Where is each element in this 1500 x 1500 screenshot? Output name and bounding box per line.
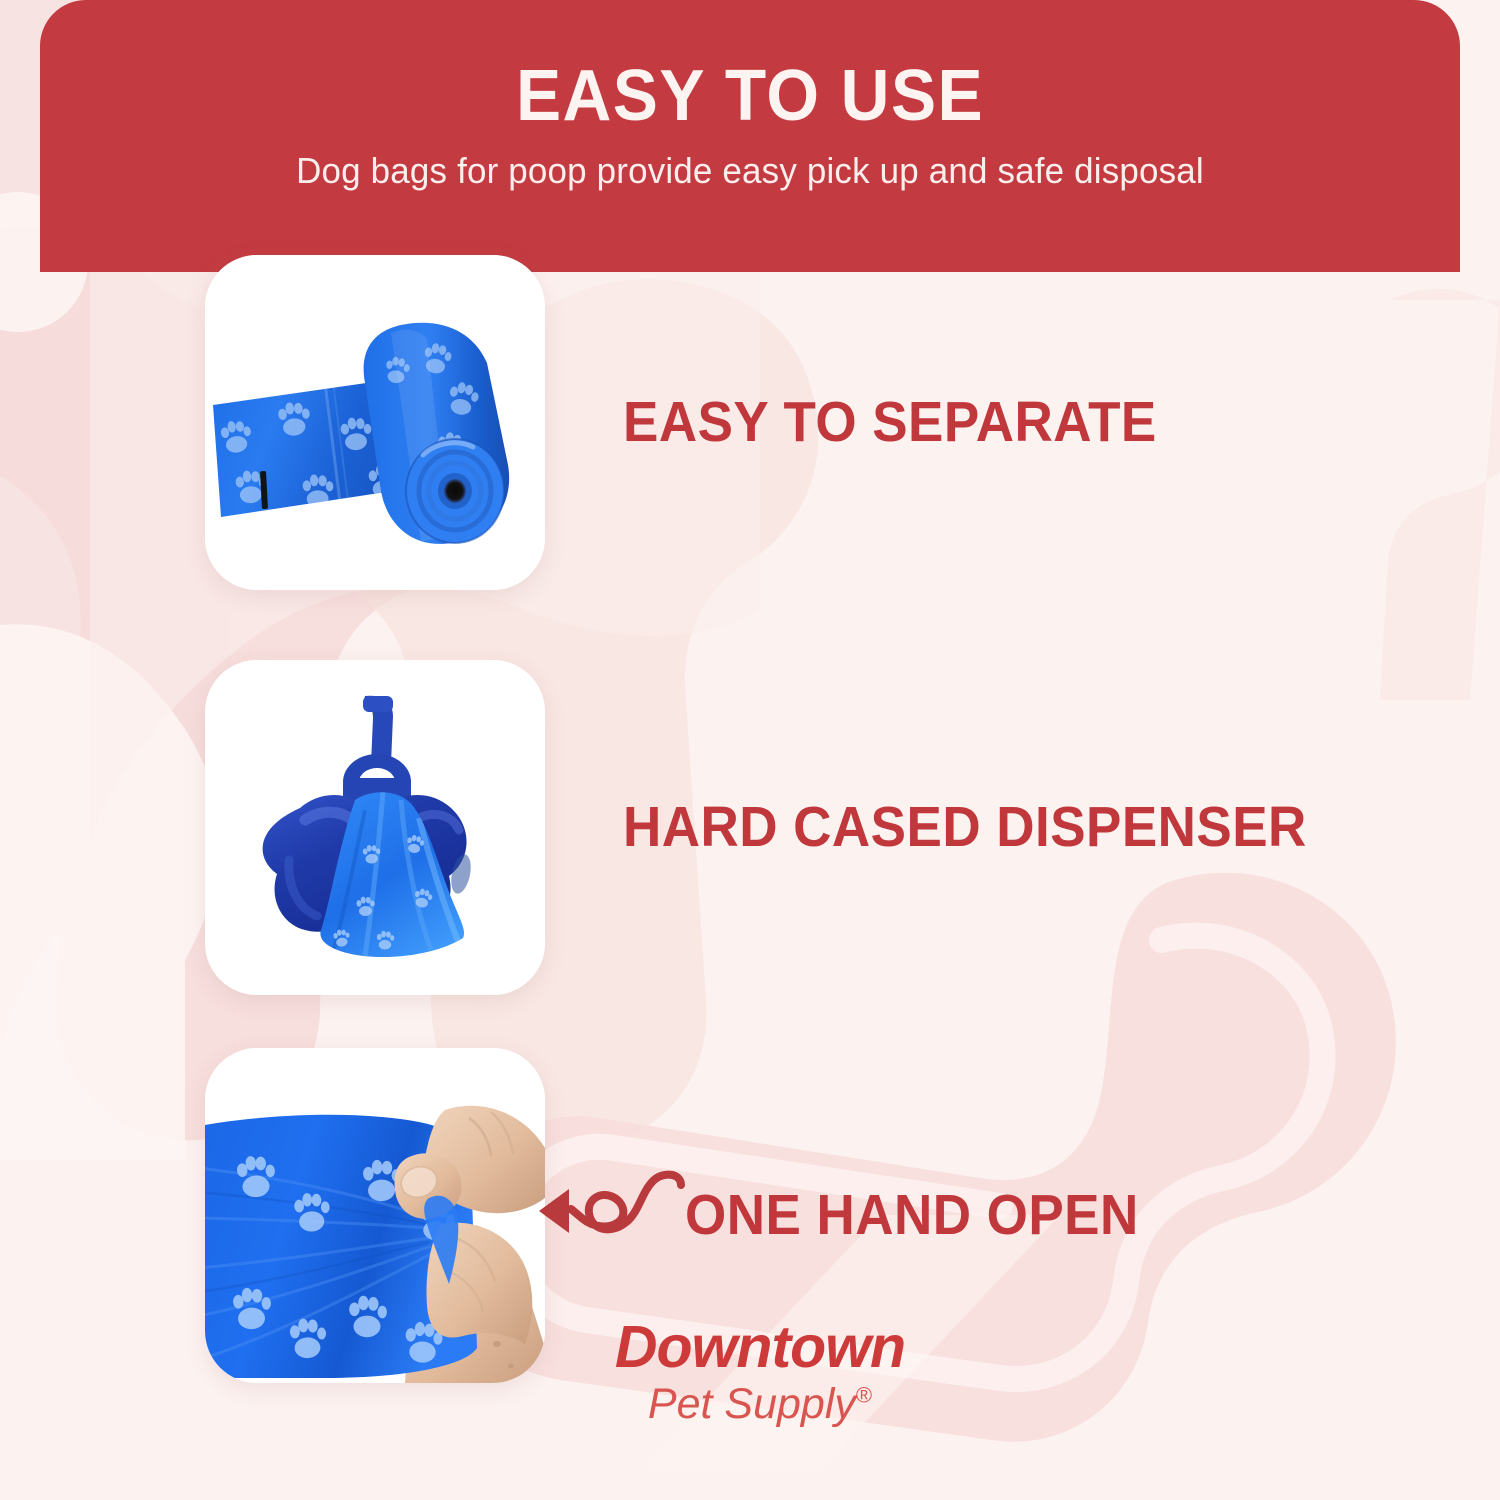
infographic-canvas: EASY TO USE Dog bags for poop provide ea… bbox=[0, 0, 1500, 1500]
photo-card-bag-roll bbox=[205, 255, 545, 590]
feature-label-one-hand-open: ONE HAND OPEN bbox=[685, 1187, 1139, 1244]
feature-label-wrap-2: HARD CASED DISPENSER bbox=[623, 799, 1358, 856]
header-banner: EASY TO USE Dog bags for poop provide ea… bbox=[40, 0, 1460, 272]
swoosh-left bbox=[0, 624, 219, 1160]
brand-logo-line2-wrap: Pet Supply® bbox=[560, 1381, 960, 1428]
bag-roll-illustration bbox=[205, 255, 545, 590]
bone-dispenser-illustration bbox=[205, 660, 545, 995]
feature-label-wrap-3: ONE HAND OPEN bbox=[535, 1151, 1173, 1281]
feature-label-hard-cased-dispenser: HARD CASED DISPENSER bbox=[623, 799, 1307, 856]
brand-logo-line1: Downtown bbox=[560, 1318, 960, 1377]
brand-logo: Downtown Pet Supply® bbox=[560, 1318, 960, 1428]
feature-label-easy-to-separate: EASY TO SEPARATE bbox=[623, 394, 1157, 451]
feature-label-wrap-1: EASY TO SEPARATE bbox=[623, 394, 1197, 451]
feature-row-hard-cased-dispenser: HARD CASED DISPENSER bbox=[205, 660, 1358, 995]
page-title: EASY TO USE bbox=[83, 58, 1418, 134]
page-subtitle: Dog bags for poop provide easy pick up a… bbox=[61, 150, 1438, 192]
photo-card-dispenser bbox=[205, 660, 545, 995]
curly-arrow-icon bbox=[535, 1151, 685, 1281]
feature-row-easy-to-separate: EASY TO SEPARATE bbox=[205, 255, 1197, 590]
photo-card-one-hand-open bbox=[205, 1048, 545, 1383]
registered-trademark-icon: ® bbox=[856, 1383, 872, 1408]
brand-logo-line2: Pet Supply bbox=[648, 1380, 856, 1428]
bone-watermark-right-top bbox=[1380, 289, 1500, 700]
hand-opening-bag-illustration bbox=[205, 1048, 545, 1383]
